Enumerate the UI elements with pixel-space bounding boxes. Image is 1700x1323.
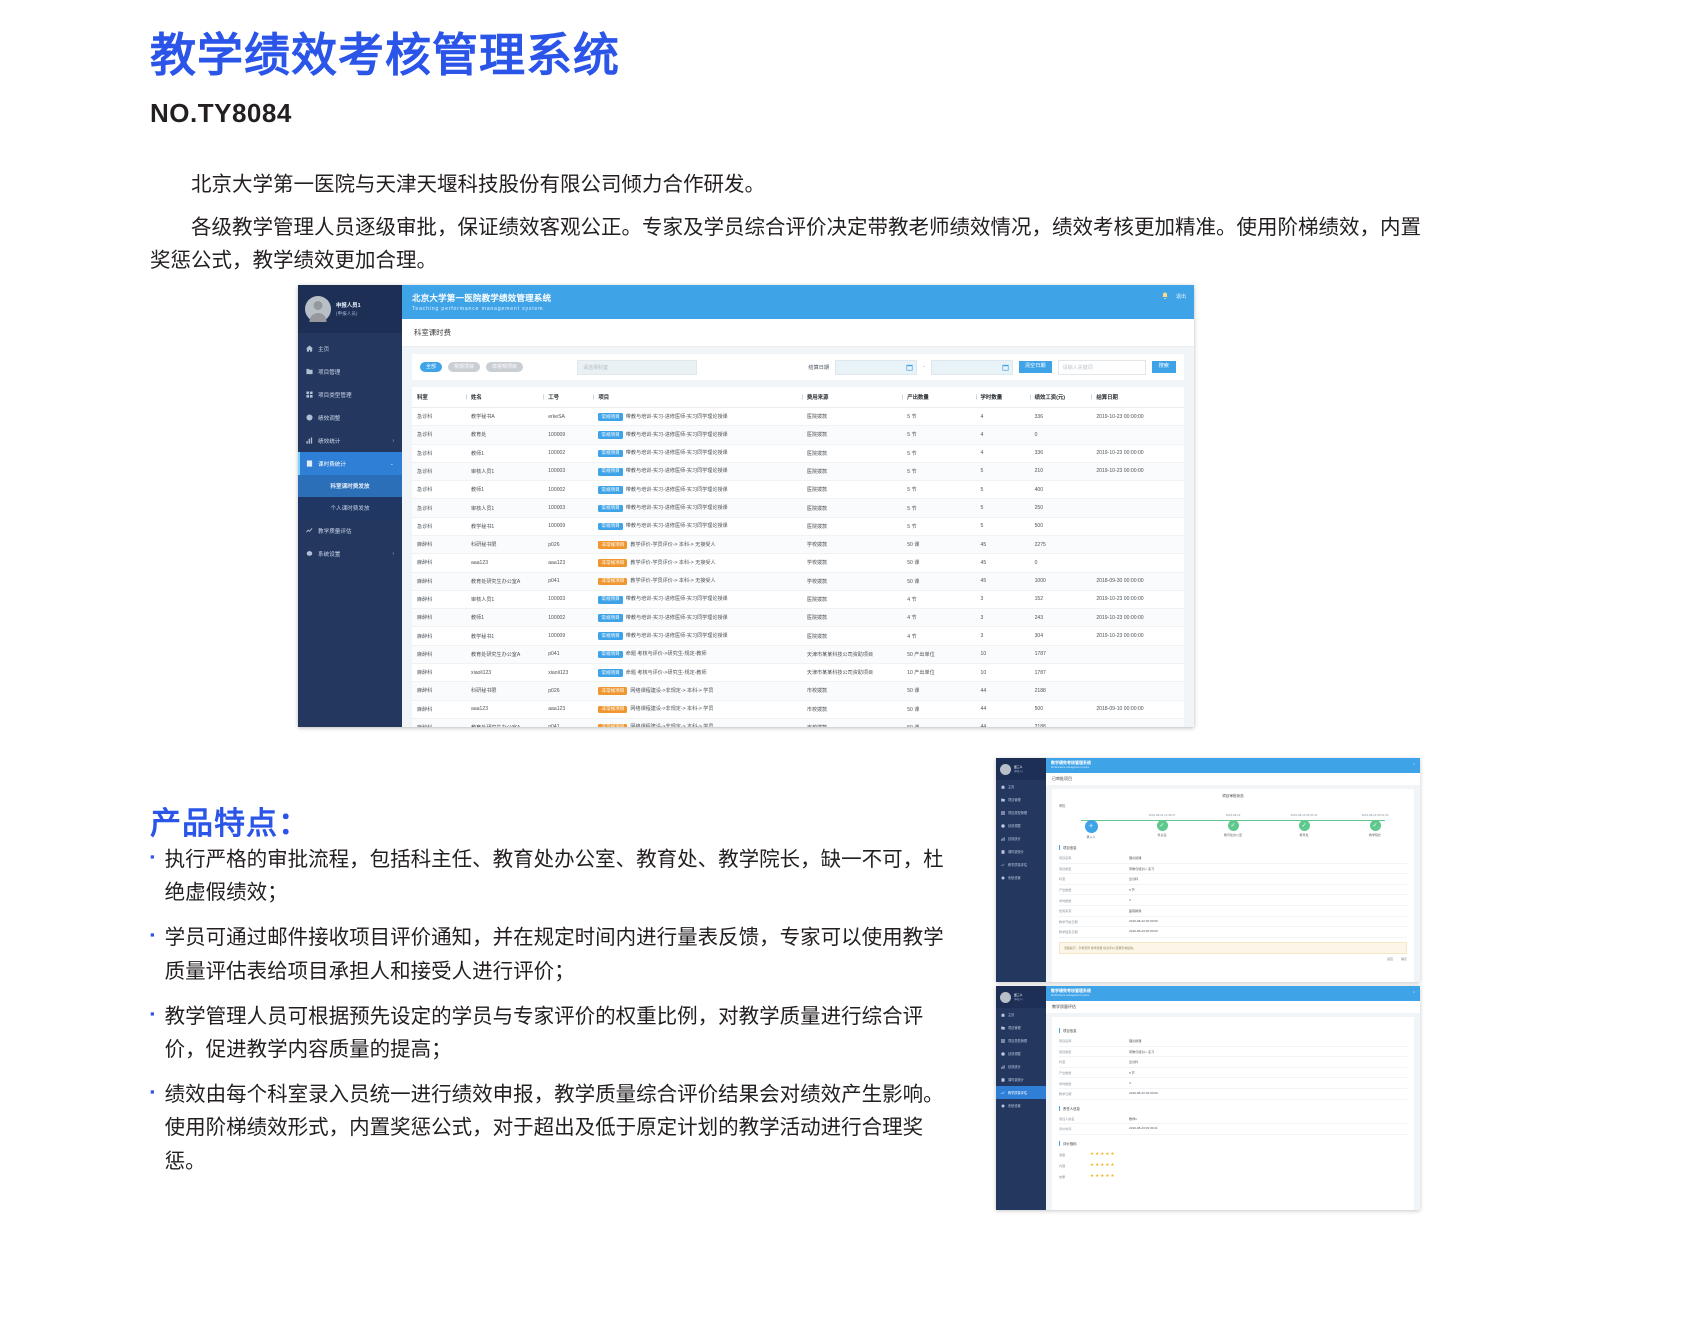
cell-project: 非常规项目网络课程建设->非规定-> 本科-> 学员 [593, 682, 801, 700]
project-type-badge: 常规项目 [598, 431, 622, 439]
approval-step: 2019-08-22 14:36:07✓科主任 [1136, 813, 1188, 837]
cell-dept: 急诊科 [412, 444, 466, 462]
sidebar-label: 绩效统计 [318, 437, 340, 445]
step-label: 教育处办公室 [1207, 833, 1259, 837]
col-dept[interactable]: 科室 [412, 387, 466, 408]
sidebar-item-project-management[interactable]: 项目管理 [298, 360, 402, 383]
score-label: 准备 [1059, 1152, 1085, 1157]
eval-menu-label: 项目类型管理 [1008, 1038, 1027, 1043]
eval-menu-label: 课时费统计 [1008, 1077, 1024, 1082]
cell-dept: 麻醉科 [412, 718, 466, 727]
cell-fee-source: 学校拨款 [802, 554, 902, 572]
chevron-down-icon: ⌄ [390, 461, 394, 467]
eval-menu-item-4[interactable]: 绩效统计 [996, 1060, 1046, 1073]
cell-output-qty: 4 节 [902, 609, 975, 627]
eval-menu-label: 主页 [1008, 1012, 1014, 1017]
cell-performance-pay: 0 [1030, 554, 1092, 572]
cell-employee-no: 100009 [543, 426, 593, 444]
eval-field-list: 项目名称理论授课项目类型带教与培训-> 实习科室急诊科产出数量5 节学时数量4教… [1059, 1036, 1407, 1100]
cell-output-qty: 5 节 [902, 499, 975, 517]
table-row[interactable]: 麻醉科科研秘书限p026非常规项目教学评价-学员评价-> 本科-> 无接受人学校… [412, 535, 1184, 553]
cell-fee-source: 医院拨款 [802, 609, 902, 627]
field-value: 2019-08-23 00:00:00 [1129, 929, 1407, 934]
cell-settle-date [1091, 481, 1184, 499]
cell-name: 科研秘书限 [466, 535, 543, 553]
cell-settle-date [1091, 718, 1184, 727]
sidebar-item-performance-stats[interactable]: 绩效统计 › [298, 429, 402, 452]
flow-menu-label: 课时费统计 [1008, 849, 1024, 854]
cell-settle-date [1091, 554, 1184, 572]
table-row[interactable]: 麻醉科aaa123aaa123非常规项目网络课程建设->非规定-> 本科-> 学… [412, 700, 1184, 718]
grid-icon [306, 391, 313, 398]
eval-sidebar: 张三人 (审核人) 主页 项目管理 项目类型管理 绩效调整 绩效统计 课时费统计… [996, 986, 1046, 1210]
app-main: 北京大学第一医院教学绩效管理系统 Teaching performance ma… [402, 285, 1194, 727]
col-output-qty[interactable]: 产出数量 [902, 387, 975, 408]
filter-tag-all[interactable]: 全部 [420, 362, 442, 372]
filter-tag-irregular[interactable]: 非常规项目 [486, 362, 523, 372]
home-icon [1001, 1013, 1005, 1017]
cell-hours-qty: 5 [976, 499, 1030, 517]
cell-performance-pay: 2188 [1030, 718, 1092, 727]
feature-item: ▪绩效由每个科室录入员统一进行绩效申报，教学质量综合评价结果会对绩效产生影响。使… [150, 1078, 960, 1178]
field-value: 带教与培训-> 实习 [1129, 866, 1407, 871]
eval-menu-item-0[interactable]: 主页 [996, 1008, 1046, 1021]
score-label: 效果 [1059, 1174, 1085, 1179]
search-button[interactable]: 搜索 [1152, 361, 1176, 373]
cell-dept: 麻醉科 [412, 572, 466, 590]
score-row: 效果★★★★★ [1059, 1171, 1407, 1182]
app-brand-subtitle: Teaching performance management system [412, 306, 551, 312]
flow-card: 项目审批状态 审批 +录入人2019-08-22 14:36:07✓科主任201… [1052, 789, 1414, 982]
cell-settle-date [1091, 517, 1184, 535]
table-row[interactable]: 麻醉科xiaoli123xiaoli123常规项目命题 考核与评价->研究生-规… [412, 663, 1184, 681]
feature-text: 执行严格的审批流程，包括科主任、教育处办公室、教育处、教学院长，缺一不可，杜绝虚… [165, 843, 960, 909]
field-label: 评价时间 [1059, 1126, 1129, 1131]
table-row[interactable]: 麻醉科审核人员1100003常规项目带教与培训-实习-进修医师-实习同学理论授课… [412, 590, 1184, 608]
col-project[interactable]: 项目 [593, 387, 801, 408]
bullet-icon: ▪ [150, 1078, 155, 1178]
eval-menu-item-6[interactable]: 教学质量评估 [996, 1086, 1046, 1099]
cell-dept: 麻醉科 [412, 590, 466, 608]
close-icon[interactable]: ✕ [1413, 991, 1415, 994]
cell-performance-pay: 500 [1030, 517, 1092, 535]
step-status-icon: ✓ [1157, 820, 1168, 831]
cell-project: 常规项目带教与培训-实习-进修医师-实习同学理论授课 [593, 590, 801, 608]
step-time: 2019-08-22 14:36:07 [1136, 813, 1188, 817]
feature-item: ▪教学管理人员可根据预先设定的学员与专家评价的权重比例，对教学质量进行综合评价，… [150, 1000, 960, 1066]
field-value: 教师1 [1129, 1116, 1407, 1121]
eval-menu: 主页 项目管理 项目类型管理 绩效调整 绩效统计 课时费统计 教学质量评估 系统… [996, 1008, 1046, 1112]
cell-hours-qty: 3 [976, 609, 1030, 627]
field-row: 项目类型带教与培训-> 实习 [1059, 1047, 1407, 1058]
field-label: 产出数量 [1059, 1070, 1129, 1075]
bar-chart-icon [1001, 1065, 1005, 1069]
cell-employee-no: 100002 [543, 444, 593, 462]
field-label: 科室 [1059, 1059, 1129, 1064]
step-time: 2019-08-23 09:31:26 [1349, 813, 1401, 817]
flow-menu-label: 主页 [1008, 784, 1014, 789]
features-list: ▪执行严格的审批流程，包括科主任、教育处办公室、教育处、教学院长，缺一不可，杜绝… [150, 843, 960, 1190]
calendar-icon [1002, 364, 1009, 371]
table-row[interactable]: 急诊科教师1100002常规项目带教与培训-实习-进修医师-实习同学理论授课医院… [412, 481, 1184, 499]
hour-fee-table: 科室 姓名 工号 项目 费用来源 产出数量 学时数量 绩效工资(元) 结算日期 … [412, 387, 1184, 727]
field-label: 项目名称 [1059, 855, 1129, 860]
step-time [1065, 813, 1117, 817]
folder-icon [1001, 1026, 1005, 1030]
avatar [1000, 992, 1011, 1003]
flow-menu-item-6[interactable]: 教学质量评估 [996, 858, 1046, 871]
field-value: 理论授课 [1129, 1038, 1407, 1043]
flow-menu-label: 绩效统计 [1008, 836, 1021, 841]
star-rating[interactable]: ★★★★★ [1090, 1151, 1116, 1157]
project-type-badge: 常规项目 [598, 651, 622, 659]
field-label: 项目类型 [1059, 1049, 1129, 1054]
cell-settle-date [1091, 426, 1184, 444]
cell-hours-qty: 4 [976, 444, 1030, 462]
flow-header: 教学绩效考核管理系统 Performance management system… [1046, 758, 1420, 773]
cell-output-qty: 50 课 [902, 700, 975, 718]
eval-menu-label: 绩效统计 [1008, 1064, 1021, 1069]
cell-performance-pay: 152 [1030, 590, 1092, 608]
cell-name: aaa123 [466, 554, 543, 572]
step-time: 2019-08-22 [1207, 813, 1259, 817]
chevron-right-icon: › [392, 438, 394, 444]
field-row: 科室急诊科 [1059, 1057, 1407, 1068]
cell-performance-pay: 1787 [1030, 663, 1092, 681]
col-name[interactable]: 姓名 [466, 387, 543, 408]
eval-menu-item-1[interactable]: 项目管理 [996, 1021, 1046, 1034]
filter-tag-regular[interactable]: 常规项目 [448, 362, 480, 372]
cell-employee-no: p041 [543, 572, 593, 590]
line-chart-icon [1001, 1091, 1005, 1095]
cell-name: 教育处 [466, 426, 543, 444]
sidebar-label: 项目管理 [318, 368, 340, 376]
cell-project: 非常规项目教学评价-学员评价-> 本科-> 无接受人 [593, 554, 801, 572]
user-name: 申报人员1 [336, 301, 361, 309]
sidebar-item-performance-adjust[interactable]: 绩效调整 [298, 406, 402, 429]
gear-icon [1001, 876, 1005, 880]
field-value: 医院拨款 [1129, 908, 1407, 913]
approval-step: 2019-08-23 09:31:26✓教学院长 [1349, 813, 1401, 837]
folder-icon [306, 368, 313, 375]
table-row[interactable]: 急诊科教师1100002常规项目带教与培训-实习-进修医师-实习同学理论授课医院… [412, 444, 1184, 462]
project-type-badge: 常规项目 [598, 468, 622, 476]
flow-brand-en: Performance management system [1051, 766, 1415, 769]
feature-text: 绩效由每个科室录入员统一进行绩效申报，教学质量综合评价结果会对绩效产生影响。使用… [165, 1078, 960, 1178]
step-label: 教育处 [1278, 833, 1330, 837]
cell-project: 常规项目带教与培训-实习-进修医师-实习同学理论授课 [593, 426, 801, 444]
table-body: 急诊科教学秘书AerkeSA常规项目带教与培训-实习-进修医师-实习同学理论授课… [412, 408, 1184, 728]
cell-hours-qty: 45 [976, 535, 1030, 553]
cell-hours-qty: 45 [976, 554, 1030, 572]
project-type-badge: 常规项目 [598, 450, 622, 458]
cell-employee-no: 100003 [543, 499, 593, 517]
field-value: 4 [1129, 898, 1407, 903]
gear-icon [1001, 1104, 1005, 1108]
table-row[interactable]: 麻醉科科研秘书限p026非常规项目网络课程建设->非规定-> 本科-> 学员市校… [412, 682, 1184, 700]
cell-fee-source: 医院拨款 [802, 590, 902, 608]
cell-project: 非常规项目网络课程建设->非规定-> 本科-> 学员 [593, 718, 801, 727]
cell-dept: 麻醉科 [412, 682, 466, 700]
flow-menu: 主页 项目管理 项目类型管理 绩效调整 绩效统计 课时费统计 教学质量评估 系统… [996, 780, 1046, 884]
cell-fee-source: 医院拨款 [802, 462, 902, 480]
eval-menu-label: 系统设置 [1008, 1103, 1021, 1108]
eval-brand-en: Performance management system [1051, 994, 1415, 997]
cell-performance-pay: 2188 [1030, 682, 1092, 700]
cell-performance-pay: 336 [1030, 408, 1092, 426]
sidebar-user-card[interactable]: 申报人员1 (申报人员) [298, 285, 402, 333]
cell-project: 常规项目带教与培训-实习-进修医师-实习同学理论授课 [593, 627, 801, 645]
flow-menu-item-0[interactable]: 主页 [996, 780, 1046, 793]
breadcrumb: 科室课时费 [402, 319, 1194, 347]
field-row: 费用来源医院拨款 [1059, 906, 1407, 917]
eval-card: 项目信息 项目名称理论授课项目类型带教与培训-> 实习科室急诊科产出数量5 节学… [1052, 1017, 1414, 1210]
eval-menu-label: 项目管理 [1008, 1025, 1021, 1030]
eval-menu-item-5[interactable]: 课时费统计 [996, 1073, 1046, 1086]
sidebar-item-teaching-quality-eval[interactable]: 教学质量评估 [298, 519, 402, 542]
cell-name: 教学秘书A [466, 408, 543, 426]
feature-text: 学员可通过邮件接收项目评价通知，并在规定时间内进行量表反馈，专家可以使用教学质量… [165, 921, 960, 987]
field-label: 科室 [1059, 876, 1129, 881]
keyword-placeholder: 请输入关键词 [1063, 364, 1093, 371]
cell-hours-qty: 10 [976, 663, 1030, 681]
field-row: 教学结束日期2019-08-23 00:00:00 [1059, 927, 1407, 938]
flow-confirm-button[interactable]: 确定 [1401, 957, 1407, 961]
cell-hours-qty: 3 [976, 627, 1030, 645]
cell-hours-qty: 44 [976, 700, 1030, 718]
flow-main: 教学绩效考核管理系统 Performance management system… [1046, 758, 1420, 982]
field-row: 评价时间2019-08-23 09:30:41 [1059, 1124, 1407, 1135]
field-label: 教学开始日期 [1059, 919, 1129, 924]
table-row[interactable]: 急诊科教学秘书1100009常规项目带教与培训-实习-进修医师-实习同学理论授课… [412, 517, 1184, 535]
cell-fee-source: 医院拨款 [802, 481, 902, 499]
field-label: 学时数量 [1059, 898, 1129, 903]
cell-name: 教师1 [466, 444, 543, 462]
feature-text: 教学管理人员可根据预先设定的学员与专家评价的权重比例，对教学质量进行综合评价，促… [165, 1000, 960, 1066]
cell-output-qty: 4 节 [902, 627, 975, 645]
cell-employee-no: p041 [543, 645, 593, 663]
cell-performance-pay: 243 [1030, 609, 1092, 627]
cell-hours-qty: 10 [976, 645, 1030, 663]
sidebar-menu: 主页 项目管理 项目类型管理 绩效调整 绩效统计 › 课时费统计 [298, 333, 402, 565]
cell-hours-qty: 44 [976, 718, 1030, 727]
cell-hours-qty: 4 [976, 426, 1030, 444]
eval-menu-item-7[interactable]: 系统设置 [996, 1099, 1046, 1112]
cell-settle-date: 2018-09-10 00:00:00 [1091, 700, 1184, 718]
eval-breadcrumb: 教学质量评估 [1046, 1001, 1420, 1013]
bullet-icon: ▪ [150, 921, 155, 987]
flow-menu-item-2[interactable]: 项目类型管理 [996, 806, 1046, 819]
sidebar-item-hour-fee-stats[interactable]: 课时费统计 ⌄ [298, 452, 402, 475]
field-row: 科室急诊科 [1059, 874, 1407, 885]
field-value: 5 节 [1129, 1070, 1407, 1075]
col-employee-no[interactable]: 工号 [543, 387, 593, 408]
cell-name: 教育处研究生办公室A [466, 718, 543, 727]
flow-back-button[interactable]: 返回 [1387, 957, 1393, 961]
cell-performance-pay: 2275 [1030, 535, 1092, 553]
approval-step: 2019-08-22✓教育处办公室 [1207, 813, 1259, 837]
step-status-icon: ✓ [1370, 820, 1381, 831]
project-type-badge: 常规项目 [598, 596, 622, 604]
star-rating[interactable]: ★★★★★ [1090, 1173, 1116, 1179]
field-value: 4 [1129, 1081, 1407, 1086]
table-row[interactable]: 急诊科教育处100009常规项目带教与培训-实习-进修医师-实习同学理论授课医院… [412, 426, 1184, 444]
settle-date-to-input[interactable] [931, 360, 1013, 375]
eval-header: 教学绩效考核管理系统 Performance management system… [1046, 986, 1420, 1001]
cell-fee-source: 天津市某某科技公司资助项目 [802, 645, 902, 663]
cell-dept: 麻醉科 [412, 535, 466, 553]
cell-settle-date: 2019-10-23 00:00:00 [1091, 590, 1184, 608]
table-row[interactable]: 急诊科教学秘书AerkeSA常规项目带教与培训-实习-进修医师-实习同学理论授课… [412, 408, 1184, 426]
cell-dept: 麻醉科 [412, 645, 466, 663]
cell-settle-date: 2019-10-23 00:00:00 [1091, 627, 1184, 645]
table-row[interactable]: 急诊科审核人员1100003常规项目带教与培训-实习-进修医师-实习同学理论授课… [412, 499, 1184, 517]
table-row[interactable]: 急诊科审核人员1100003常规项目带教与培训-实习-进修医师-实习同学理论授课… [412, 462, 1184, 480]
field-label: 项目名称 [1059, 1038, 1129, 1043]
app-brand-title: 北京大学第一医院教学绩效管理系统 [412, 292, 551, 304]
cell-hours-qty: 5 [976, 517, 1030, 535]
settle-date-from-input[interactable] [835, 360, 917, 375]
col-hours-qty[interactable]: 学时数量 [976, 387, 1030, 408]
field-value: 急诊科 [1129, 1059, 1407, 1064]
calculator-icon [1001, 850, 1005, 854]
field-row: 学时数量4 [1059, 895, 1407, 906]
eval-score-title: 评价指标 [1059, 1141, 1407, 1146]
cell-output-qty: 50 课 [902, 554, 975, 572]
cell-output-qty: 5 节 [902, 426, 975, 444]
table-header-row: 科室 姓名 工号 项目 费用来源 产出数量 学时数量 绩效工资(元) 结算日期 [412, 387, 1184, 408]
cell-employee-no: p026 [543, 535, 593, 553]
filter-bar: 全部 常规项目 非常规项目 请选择科室 结算日期 - 清空日期 请输入关键词 搜… [412, 354, 1184, 380]
table-row[interactable]: 麻醉科教育处研究生办公室Ap041常规项目命题 考核与评价->研究生-规定-教师… [412, 645, 1184, 663]
cell-project: 常规项目带教与培训-实习-进修医师-实习同学理论授课 [593, 462, 801, 480]
cell-name: 教育处研究生办公室A [466, 572, 543, 590]
flow-sidebar: 张三人 (审核人) 主页 项目管理 项目类型管理 绩效调整 绩效统计 课时费统计… [996, 758, 1046, 982]
product-code: NO.TY8084 [150, 98, 292, 129]
feature-item: ▪学员可通过邮件接收项目评价通知，并在规定时间内进行量表反馈，专家可以使用教学质… [150, 921, 960, 987]
project-type-badge: 非常规项目 [598, 541, 627, 549]
grid-icon [1001, 811, 1005, 815]
department-select[interactable]: 请选择科室 [577, 360, 697, 375]
cell-output-qty: 5 节 [902, 517, 975, 535]
table-row[interactable]: 麻醉科教学秘书1100009常规项目带教与培训-实习-进修医师-实习同学理论授课… [412, 627, 1184, 645]
flow-menu-item-5[interactable]: 课时费统计 [996, 845, 1046, 858]
field-label: 项目类型 [1059, 866, 1129, 871]
cell-dept: 急诊科 [412, 462, 466, 480]
step-label: 录入人 [1065, 835, 1117, 839]
field-value: 带教与培训-> 实习 [1129, 1049, 1407, 1054]
cell-dept: 麻醉科 [412, 609, 466, 627]
cell-output-qty: 50 课 [902, 572, 975, 590]
table-row[interactable]: 麻醉科aaa123aaa123非常规项目教学评价-学员评价-> 本科-> 无接受… [412, 554, 1184, 572]
cell-dept: 麻醉科 [412, 700, 466, 718]
flow-field-list: 项目名称理论授课项目类型带教与培训-> 实习科室急诊科产出数量5 节学时数量4费… [1059, 853, 1407, 938]
keyword-input[interactable]: 请输入关键词 [1058, 360, 1146, 375]
cell-hours-qty: 45 [976, 572, 1030, 590]
cell-output-qty: 50 课 [902, 682, 975, 700]
eval-menu-item-3[interactable]: 绩效调整 [996, 1047, 1046, 1060]
cell-employee-no: p041 [543, 718, 593, 727]
flow-section-title: 项目信息 [1059, 845, 1407, 850]
cell-dept: 急诊科 [412, 481, 466, 499]
step-time: 2019-08-23 09:30:41 [1278, 813, 1330, 817]
project-type-badge: 非常规项目 [598, 706, 627, 714]
flow-menu-item-1[interactable]: 项目管理 [996, 793, 1046, 806]
sidebar-subitem-personal-hour-fee[interactable]: 个人课时费发放 [298, 497, 402, 519]
project-type-badge: 非常规项目 [598, 559, 627, 567]
cell-project: 常规项目命题 考核与评价->研究生-规定-教师 [593, 645, 801, 663]
table-row[interactable]: 麻醉科教育处研究生办公室Ap041非常规项目教学评价-学员评价-> 本科-> 无… [412, 572, 1184, 590]
cell-employee-no: aaa123 [543, 554, 593, 572]
field-label: 费用来源 [1059, 908, 1129, 913]
field-label: 责任人姓名 [1059, 1116, 1129, 1121]
step-label: 教学院长 [1349, 833, 1401, 837]
sidebar-item-system-settings[interactable]: 系统设置 › [298, 542, 402, 565]
line-chart-icon [1001, 863, 1005, 867]
eval-user-card[interactable]: 张三人 (审核人) [996, 986, 1046, 1008]
data-table-wrapper[interactable]: 科室 姓名 工号 项目 费用来源 产出数量 学时数量 绩效工资(元) 结算日期 … [412, 387, 1184, 727]
gear-icon [306, 550, 313, 557]
flow-menu-item-7[interactable]: 系统设置 [996, 871, 1046, 884]
cell-settle-date: 2019-10-23 00:00:00 [1091, 408, 1184, 426]
score-row: 准备★★★★★ [1059, 1149, 1407, 1160]
features-heading: 产品特点： [150, 798, 310, 843]
tune-icon [1001, 1052, 1005, 1056]
col-settle-date[interactable]: 结算日期 [1091, 387, 1184, 408]
cell-fee-source: 市校拨款 [802, 700, 902, 718]
flow-menu-item-4[interactable]: 绩效统计 [996, 832, 1046, 845]
clear-date-button[interactable]: 清空日期 [1019, 361, 1052, 373]
cell-fee-source: 医院拨款 [802, 627, 902, 645]
cell-name: 科研秘书限 [466, 682, 543, 700]
notification-bell-icon[interactable] [1161, 292, 1169, 300]
flow-menu-label: 绩效调整 [1008, 823, 1021, 828]
sidebar-label: 课时费统计 [318, 460, 346, 468]
field-row: 责任人姓名教师1 [1059, 1114, 1407, 1125]
bullet-icon: ▪ [150, 843, 155, 909]
approval-step: +录入人 [1065, 813, 1117, 839]
flow-menu-item-3[interactable]: 绩效调整 [996, 819, 1046, 832]
cell-fee-source: 医院拨款 [802, 408, 902, 426]
cell-fee-source: 医院拨款 [802, 444, 902, 462]
table-row[interactable]: 麻醉科教师1100002常规项目带教与培训-实习-进修医师-实习同学理论授课医院… [412, 609, 1184, 627]
cell-dept: 急诊科 [412, 408, 466, 426]
table-row[interactable]: 麻醉科教育处研究生办公室Ap041非常规项目网络课程建设->非规定-> 本科->… [412, 718, 1184, 727]
cell-employee-no: erkeSA [543, 408, 593, 426]
cell-dept: 麻醉科 [412, 663, 466, 681]
sidebar-label: 绩效调整 [318, 414, 340, 422]
flow-user-card[interactable]: 张三人 (审核人) [996, 758, 1046, 780]
field-value: 急诊科 [1129, 876, 1407, 881]
settle-date-label: 结算日期 [808, 364, 829, 371]
cell-output-qty: 5 节 [902, 444, 975, 462]
sidebar-item-project-type-management[interactable]: 项目类型管理 [298, 383, 402, 406]
close-icon[interactable]: ✕ [1413, 763, 1415, 766]
logout-button[interactable]: 退出 [1176, 293, 1186, 300]
eval-menu-item-2[interactable]: 项目类型管理 [996, 1034, 1046, 1047]
field-label: 学时数量 [1059, 1081, 1129, 1086]
star-rating[interactable]: ★★★★★ [1090, 1162, 1116, 1168]
app-header: 北京大学第一医院教学绩效管理系统 Teaching performance ma… [402, 285, 1194, 319]
field-row: 学时数量4 [1059, 1078, 1407, 1089]
sidebar-item-home[interactable]: 主页 [298, 337, 402, 360]
cell-fee-source: 市校拨款 [802, 718, 902, 727]
main-app-screenshot: 申报人员1 (申报人员) 主页 项目管理 项目类型管理 绩效调整 [298, 285, 1194, 727]
sidebar-subitem-dept-hour-fee[interactable]: 科室课时费发放 [298, 475, 402, 497]
cell-fee-source: 天津市某某科技公司资助项目 [802, 663, 902, 681]
col-fee-source[interactable]: 费用来源 [802, 387, 902, 408]
col-performance-pay[interactable]: 绩效工资(元) [1030, 387, 1092, 408]
